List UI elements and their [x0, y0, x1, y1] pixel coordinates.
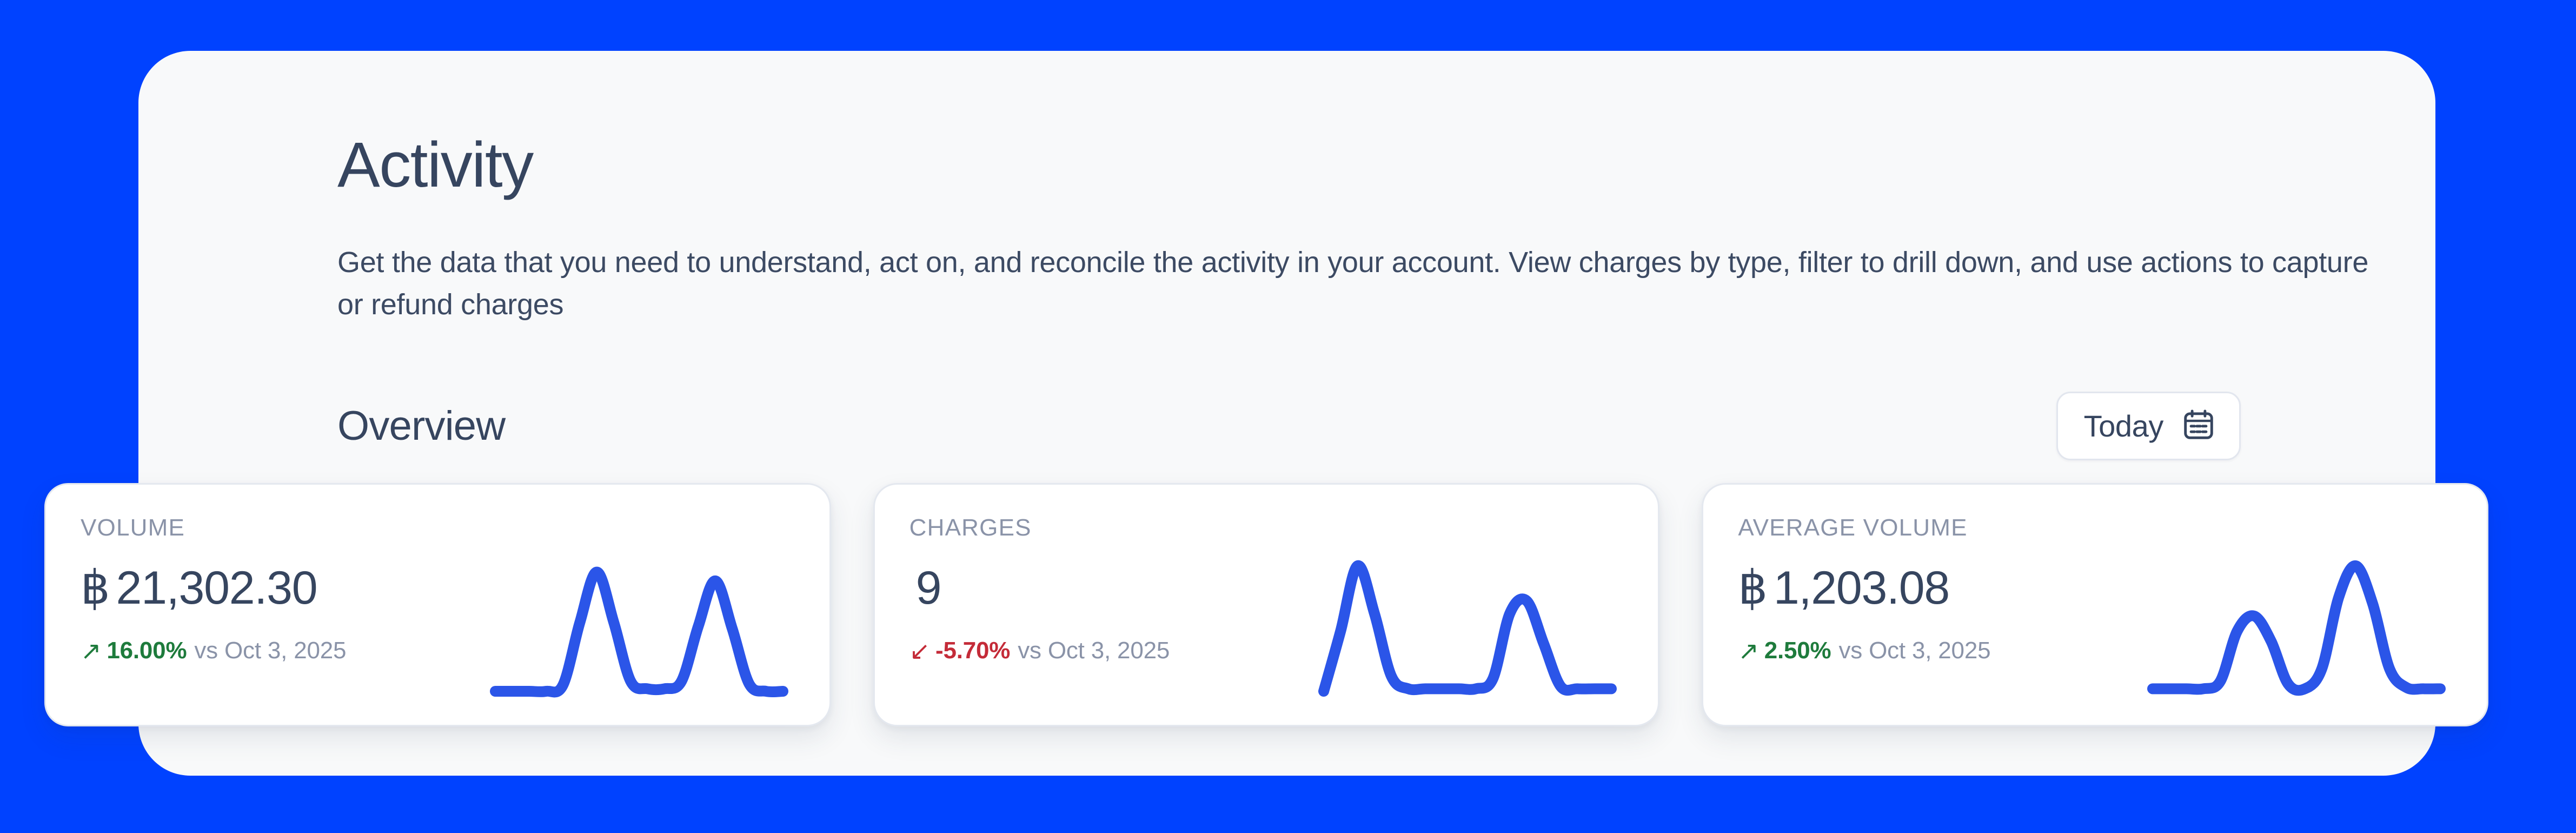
arrow-down-left-icon: ↙: [909, 638, 930, 663]
date-filter-button[interactable]: Today: [2056, 392, 2241, 460]
arrow-up-right-icon: ↗: [81, 638, 101, 663]
sparkline-volume: [488, 558, 791, 702]
delta-percent: -5.70%: [935, 639, 1010, 663]
metric-delta: ↗ 2.50% vs Oct 3, 2025: [1738, 638, 1990, 663]
overview-header: Overview Today: [337, 392, 2241, 460]
metric-amount: 9: [916, 562, 941, 614]
page-description: Get the data that you need to understand…: [337, 241, 2376, 326]
calendar-icon: [2182, 408, 2215, 444]
panel-header: Activity Get the data that you need to u…: [337, 132, 2376, 326]
metric-value: ฿21,302.30: [81, 564, 346, 612]
metric-label: VOLUME: [81, 516, 346, 540]
metric-delta: ↗ 16.00% vs Oct 3, 2025: [81, 638, 346, 663]
delta-comparison: vs Oct 3, 2025: [1838, 639, 1990, 663]
metric-card-average-volume[interactable]: AVERAGE VOLUME ฿1,203.08 ↗ 2.50% vs Oct …: [1702, 483, 2488, 726]
arrow-up-right-icon: ↗: [1738, 638, 1758, 663]
metric-cards-row: VOLUME ฿21,302.30 ↗ 16.00% vs Oct 3, 202…: [44, 483, 2488, 726]
metric-content: VOLUME ฿21,302.30 ↗ 16.00% vs Oct 3, 202…: [81, 516, 346, 663]
date-filter-label: Today: [2084, 411, 2163, 441]
currency-symbol: ฿: [81, 562, 110, 614]
metric-value: ฿1,203.08: [1738, 564, 1990, 612]
sparkline-charges: [1316, 558, 1619, 702]
metric-card-volume[interactable]: VOLUME ฿21,302.30 ↗ 16.00% vs Oct 3, 202…: [44, 483, 831, 726]
page-title: Activity: [337, 132, 2376, 199]
metric-label: CHARGES: [909, 516, 1170, 540]
delta-percent: 2.50%: [1764, 639, 1831, 663]
metric-delta: ↙ -5.70% vs Oct 3, 2025: [909, 638, 1170, 663]
metric-amount: 21,302.30: [116, 562, 317, 614]
delta-comparison: vs Oct 3, 2025: [1018, 639, 1170, 663]
metric-content: CHARGES 9 ↙ -5.70% vs Oct 3, 2025: [909, 516, 1170, 663]
metric-content: AVERAGE VOLUME ฿1,203.08 ↗ 2.50% vs Oct …: [1738, 516, 1990, 663]
delta-percent: 16.00%: [107, 639, 187, 663]
metric-value: 9: [909, 564, 1170, 612]
metric-card-charges[interactable]: CHARGES 9 ↙ -5.70% vs Oct 3, 2025: [873, 483, 1660, 726]
sparkline-average-volume: [2145, 558, 2448, 702]
overview-title: Overview: [337, 406, 505, 447]
delta-comparison: vs Oct 3, 2025: [194, 639, 346, 663]
metric-label: AVERAGE VOLUME: [1738, 516, 1990, 540]
metric-amount: 1,203.08: [1774, 562, 1949, 614]
currency-symbol: ฿: [1738, 562, 1767, 614]
